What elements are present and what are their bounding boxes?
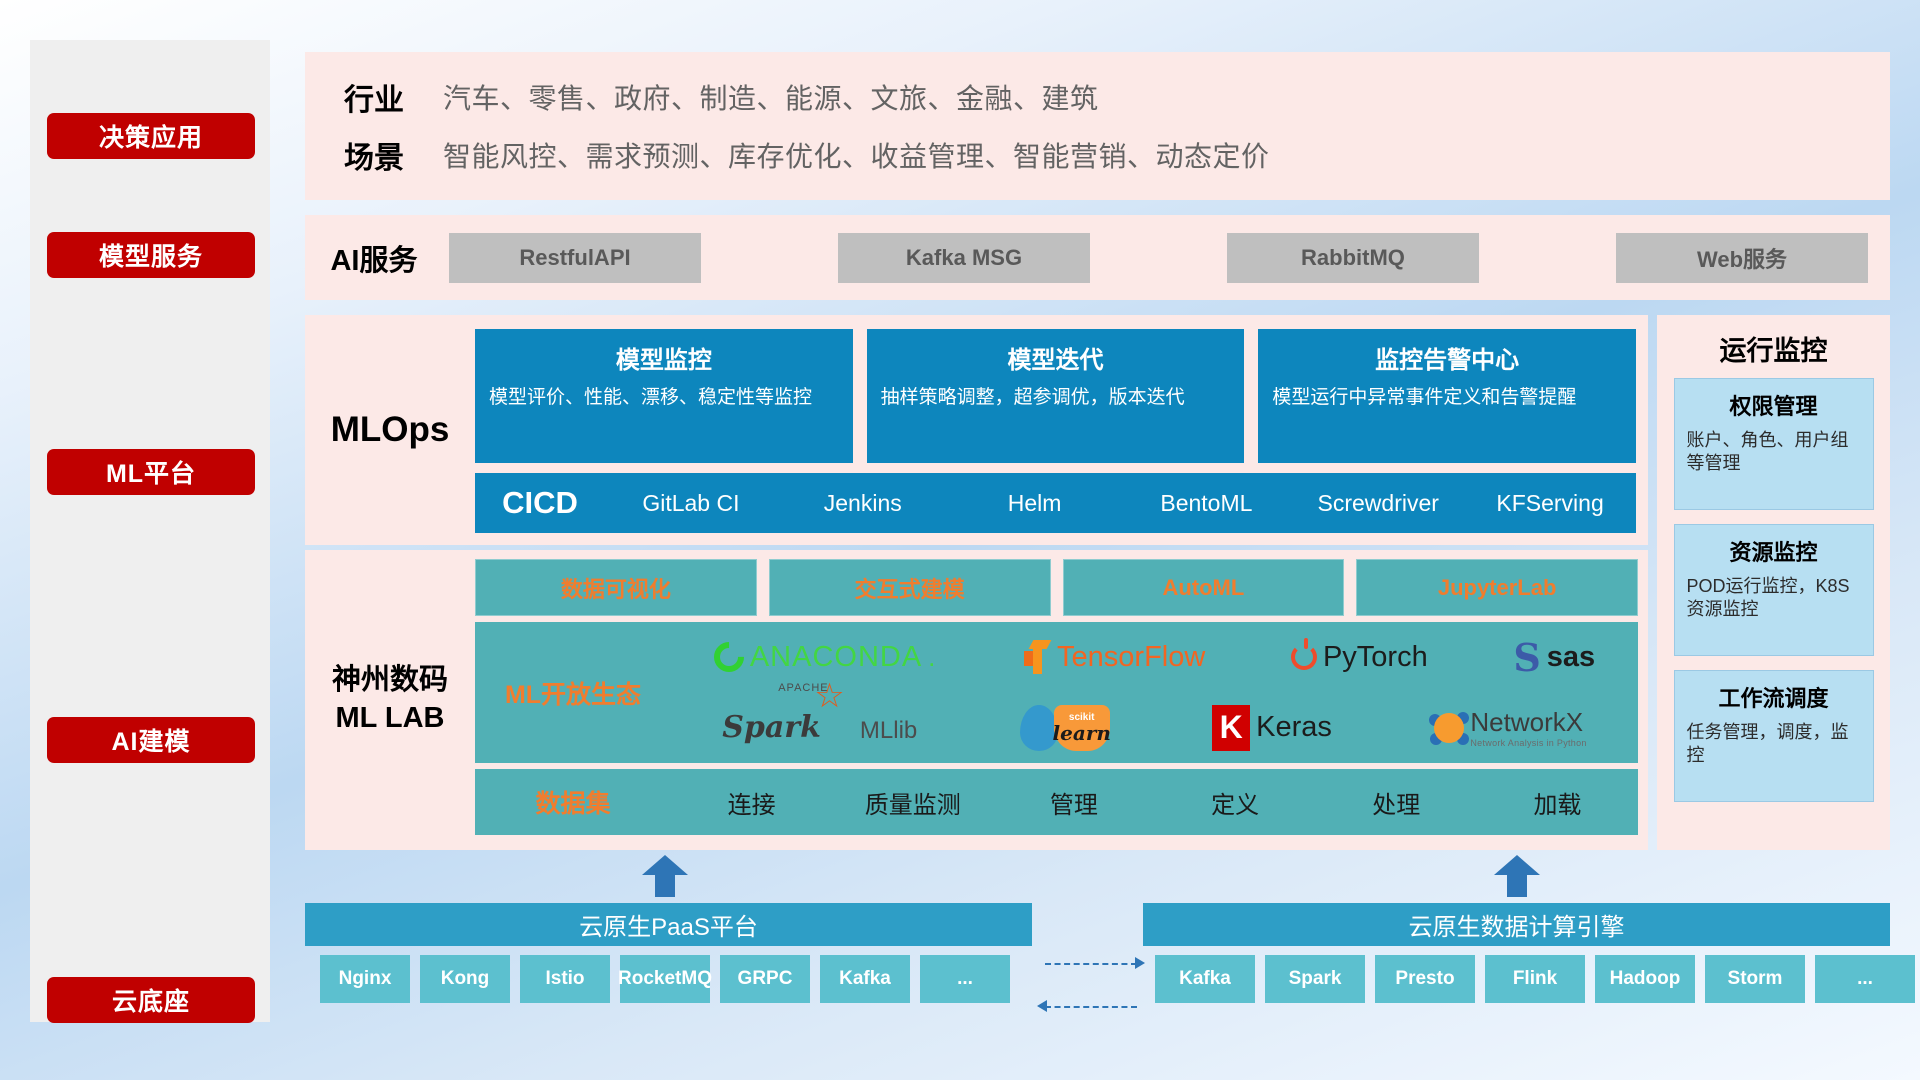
networkx-graph-icon <box>1434 713 1464 743</box>
keras-k-icon: K <box>1212 705 1250 751</box>
rail-item-model-service[interactable]: 模型服务 <box>47 232 255 278</box>
engine-chip-kafka[interactable]: Kafka <box>1155 955 1255 1003</box>
cicd-items: GitLab CI Jenkins Helm BentoML Screwdriv… <box>605 490 1636 516</box>
keras-label: Keras <box>1256 711 1332 744</box>
paas-chip-row: Nginx Kong Istio RocketMQ GRPC Kafka ... <box>320 955 1010 1003</box>
dataset-row: 数据集 连接 质量监测 管理 定义 处理 加载 <box>475 769 1638 835</box>
pytorch-flame-icon <box>1291 644 1317 670</box>
tab-jupyterlab[interactable]: JupyterLab <box>1356 559 1638 616</box>
tab-data-visualization[interactable]: 数据可视化 <box>475 559 757 616</box>
connector-right-arrowhead-icon <box>1135 957 1145 969</box>
mlops-card-model-iteration[interactable]: 模型迭代 抽样策略调整，超参调优，版本迭代 <box>867 329 1245 463</box>
rail-item-ml-platform[interactable]: ML平台 <box>47 449 255 495</box>
engine-chip-spark[interactable]: Spark <box>1265 955 1365 1003</box>
rail-label: 模型服务 <box>99 237 203 273</box>
ai-service-web[interactable]: Web服务 <box>1616 233 1868 283</box>
networkx-logo: NetworkX Network Analysis in Python <box>1434 707 1586 748</box>
industry-scenario-band: 行业 汽车、零售、政府、制造、能源、文旅、金融、建筑 场景 智能风控、需求预测、… <box>305 52 1890 200</box>
cicd-item-gitlab-ci[interactable]: GitLab CI <box>605 490 777 516</box>
card-title: 模型迭代 <box>881 340 1231 375</box>
spark-mllib-logo: APACHE ☆ Spark MLlib <box>722 710 917 745</box>
cicd-label: CICD <box>475 485 605 521</box>
data-engine-bar[interactable]: 云原生数据计算引擎 <box>1143 903 1890 946</box>
ml-ecosystem-panel: ML开放生态 ANACONDA . TensorFlow <box>475 622 1638 763</box>
paas-chip-more[interactable]: ... <box>920 955 1010 1003</box>
tensorflow-label: TensorFlow <box>1057 641 1205 674</box>
scenario-value: 智能风控、需求预测、库存优化、收益管理、智能营销、动态定价 <box>443 135 1270 175</box>
mllib-label: MLlib <box>860 717 917 745</box>
rail-label: 云底座 <box>112 982 190 1018</box>
mlops-card-model-monitor[interactable]: 模型监控 模型评价、性能、漂移、稳定性等监控 <box>475 329 853 463</box>
engine-chip-row: Kafka Spark Presto Flink Hadoop Storm ..… <box>1155 955 1915 1003</box>
card-title: 监控告警中心 <box>1272 340 1622 375</box>
ml-lab-key: 神州数码 ML LAB <box>305 550 475 850</box>
engine-chip-more[interactable]: ... <box>1815 955 1915 1003</box>
sas-label: sas <box>1547 641 1595 674</box>
dataset-item-process[interactable]: 处理 <box>1316 785 1477 820</box>
ml-lab-tabs: 数据可视化 交互式建模 AutoML JupyterLab <box>475 559 1638 616</box>
ai-service-rabbitmq[interactable]: RabbitMQ <box>1227 233 1479 283</box>
cicd-item-screwdriver[interactable]: Screwdriver <box>1292 490 1464 516</box>
paas-chip-kong[interactable]: Kong <box>420 955 510 1003</box>
paas-platform-bar[interactable]: 云原生PaaS平台 <box>305 903 1032 946</box>
card-desc: POD运行监控，K8S资源监控 <box>1687 575 1861 622</box>
diagram-canvas: 决策应用 模型服务 ML平台 AI建模 云底座 行业 汽车、零售、政府、制造、能… <box>0 0 1920 1080</box>
mlops-content: 模型监控 模型评价、性能、漂移、稳定性等监控 模型迭代 抽样策略调整，超参调优，… <box>475 315 1648 545</box>
paas-chip-istio[interactable]: Istio <box>520 955 610 1003</box>
ml-ecosystem-label: ML开放生态 <box>475 675 671 711</box>
ai-service-restfulapi[interactable]: RestfulAPI <box>449 233 701 283</box>
monitor-card-resource[interactable]: 资源监控 POD运行监控，K8S资源监控 <box>1674 524 1874 656</box>
connector-right-dashed <box>1045 963 1137 965</box>
card-desc: 抽样策略调整，超参调优，版本迭代 <box>881 385 1231 410</box>
cicd-item-bentoml[interactable]: BentoML <box>1120 490 1292 516</box>
ai-service-band: AI服务 RestfulAPI Kafka MSG RabbitMQ Web服务 <box>305 215 1890 300</box>
industry-value: 汽车、零售、政府、制造、能源、文旅、金融、建筑 <box>443 77 1099 117</box>
ai-service-key: AI服务 <box>305 237 443 279</box>
dataset-item-load[interactable]: 加载 <box>1477 785 1638 820</box>
cicd-item-helm[interactable]: Helm <box>949 490 1121 516</box>
rail-item-ai-modeling[interactable]: AI建模 <box>47 717 255 763</box>
engine-chip-presto[interactable]: Presto <box>1375 955 1475 1003</box>
rail-label: 决策应用 <box>99 118 203 154</box>
paas-chip-nginx[interactable]: Nginx <box>320 955 410 1003</box>
runtime-monitor-panel: 运行监控 权限管理 账户、角色、用户组等管理 资源监控 POD运行监控，K8S资… <box>1657 315 1890 850</box>
tensorflow-mark-icon <box>1021 640 1051 674</box>
mlops-card-alert-center[interactable]: 监控告警中心 模型运行中异常事件定义和告警提醒 <box>1258 329 1636 463</box>
dataset-label: 数据集 <box>475 784 671 820</box>
connector-left-dashed <box>1045 1006 1137 1008</box>
paas-up-arrow-icon <box>642 855 688 897</box>
rail-label: AI建模 <box>111 722 190 758</box>
dataset-item-manage[interactable]: 管理 <box>993 785 1154 820</box>
card-title: 工作流调度 <box>1687 681 1861 713</box>
paas-chip-grpc[interactable]: GRPC <box>720 955 810 1003</box>
ecosystem-logo-row-2: APACHE ☆ Spark MLlib scikit learn <box>671 693 1638 764</box>
mlops-key: MLOps <box>305 315 475 545</box>
paas-chip-kafka[interactable]: Kafka <box>820 955 910 1003</box>
mlops-cards: 模型监控 模型评价、性能、漂移、稳定性等监控 模型迭代 抽样策略调整，超参调优，… <box>475 329 1636 463</box>
engine-chip-storm[interactable]: Storm <box>1705 955 1805 1003</box>
card-desc: 账户、角色、用户组等管理 <box>1687 429 1861 476</box>
spark-label: Spark <box>722 710 821 745</box>
keras-logo: K Keras <box>1212 705 1332 751</box>
ai-service-kafka-msg[interactable]: Kafka MSG <box>838 233 1090 283</box>
pytorch-label: PyTorch <box>1323 641 1428 674</box>
monitor-card-permission[interactable]: 权限管理 账户、角色、用户组等管理 <box>1674 378 1874 510</box>
cicd-item-kfserving[interactable]: KFServing <box>1464 490 1636 516</box>
card-desc: 模型运行中异常事件定义和告警提醒 <box>1272 385 1622 410</box>
scenario-line: 场景 智能风控、需求预测、库存优化、收益管理、智能营销、动态定价 <box>305 130 1890 180</box>
networkx-label: NetworkX <box>1470 707 1586 738</box>
engine-chip-hadoop[interactable]: Hadoop <box>1595 955 1695 1003</box>
card-desc: 任务管理，调度，监控 <box>1687 721 1861 768</box>
sas-logo: S sas <box>1513 635 1595 680</box>
learn-label: learn <box>1053 723 1111 743</box>
card-title: 模型监控 <box>489 340 839 375</box>
spark-star-icon: ☆ <box>814 676 844 716</box>
paas-chip-rocketmq[interactable]: RocketMQ <box>620 955 710 1003</box>
card-desc: 模型评价、性能、漂移、稳定性等监控 <box>489 385 839 410</box>
rail-item-cloud-foundation[interactable]: 云底座 <box>47 977 255 1023</box>
rail-item-decision-app[interactable]: 决策应用 <box>47 113 255 159</box>
tab-automl[interactable]: AutoML <box>1063 559 1345 616</box>
ai-service-items: RestfulAPI Kafka MSG RabbitMQ Web服务 <box>443 233 1890 283</box>
cicd-row: CICD GitLab CI Jenkins Helm BentoML Scre… <box>475 473 1636 533</box>
anaconda-logo: ANACONDA . <box>714 641 936 674</box>
cicd-item-jenkins[interactable]: Jenkins <box>777 490 949 516</box>
tensorflow-logo: TensorFlow <box>1021 640 1205 674</box>
card-title: 权限管理 <box>1687 389 1861 421</box>
rail-label: ML平台 <box>106 454 196 490</box>
scikit-learn-logo: scikit learn <box>1020 705 1110 751</box>
engine-chip-flink[interactable]: Flink <box>1485 955 1585 1003</box>
ml-ecosystem-logos: ANACONDA . TensorFlow PyTorch S <box>671 622 1638 763</box>
ml-lab-content: 数据可视化 交互式建模 AutoML JupyterLab ML开放生态 ANA… <box>475 550 1648 850</box>
anaconda-ring-icon <box>708 636 750 678</box>
mlops-band: MLOps 模型监控 模型评价、性能、漂移、稳定性等监控 模型迭代 抽样策略调整… <box>305 315 1648 545</box>
engine-up-arrow-icon <box>1494 855 1540 897</box>
runtime-monitor-title: 运行监控 <box>1720 329 1828 368</box>
ml-lab-key-line2: ML LAB <box>332 700 448 738</box>
scenario-key: 场景 <box>305 133 443 177</box>
dataset-item-connect[interactable]: 连接 <box>671 785 832 820</box>
card-title: 资源监控 <box>1687 535 1861 567</box>
industry-key: 行业 <box>305 75 443 119</box>
connector-left-arrowhead-icon <box>1037 1000 1047 1012</box>
industry-line: 行业 汽车、零售、政府、制造、能源、文旅、金融、建筑 <box>305 72 1890 122</box>
networkx-sublabel: Network Analysis in Python <box>1470 738 1586 748</box>
scikit-orange-blob-icon: scikit learn <box>1054 705 1110 751</box>
anaconda-dot: . <box>928 642 935 673</box>
dataset-items: 连接 质量监测 管理 定义 处理 加载 <box>671 785 1638 820</box>
pytorch-logo: PyTorch <box>1291 641 1428 674</box>
sas-swirl-icon: S <box>1513 635 1540 680</box>
ml-lab-key-line1: 神州数码 <box>332 662 448 700</box>
anaconda-label: ANACONDA <box>750 641 922 674</box>
monitor-card-workflow[interactable]: 工作流调度 任务管理，调度，监控 <box>1674 670 1874 802</box>
tab-interactive-modeling[interactable]: 交互式建模 <box>769 559 1051 616</box>
ml-lab-band: 神州数码 ML LAB 数据可视化 交互式建模 AutoML JupyterLa… <box>305 550 1648 850</box>
dataset-item-define[interactable]: 定义 <box>1155 785 1316 820</box>
dataset-item-quality[interactable]: 质量监测 <box>832 785 993 820</box>
left-rail: 决策应用 模型服务 ML平台 AI建模 云底座 <box>30 40 270 1022</box>
